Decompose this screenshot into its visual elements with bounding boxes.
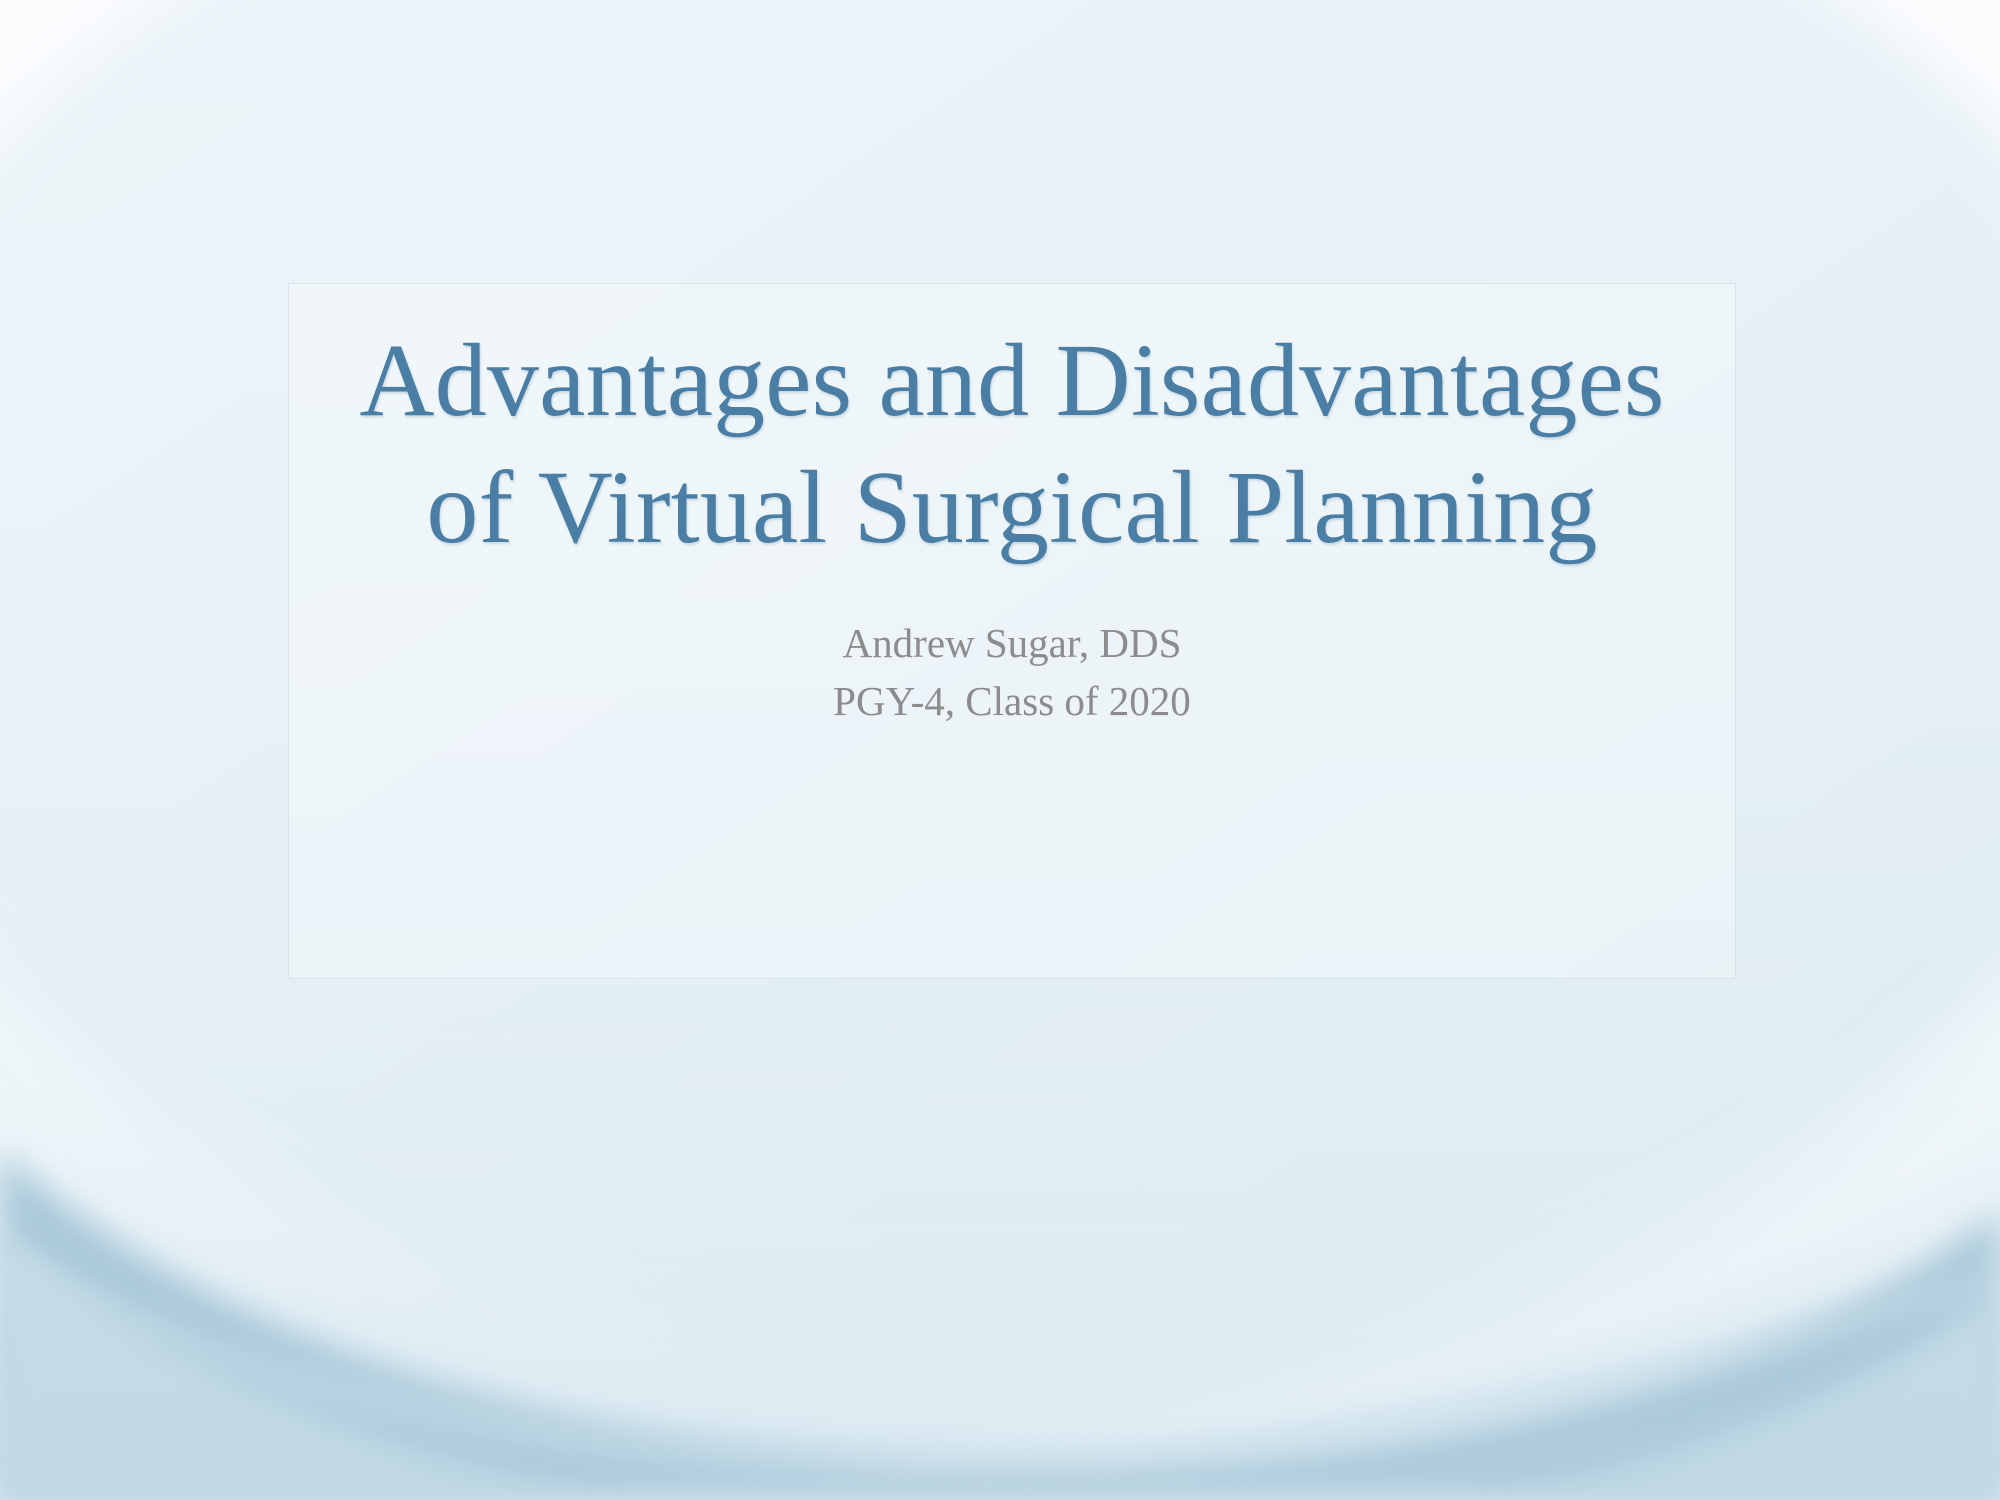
subtitle-block: Andrew Sugar, DDS PGY-4, Class of 2020 <box>833 572 1191 730</box>
page-title: Advantages and Disadvantages of Virtual … <box>352 318 1672 572</box>
subtitle-author: Andrew Sugar, DDS <box>833 614 1191 672</box>
title-content-frame: Advantages and Disadvantages of Virtual … <box>288 283 1736 979</box>
subtitle-affiliation: PGY-4, Class of 2020 <box>833 672 1191 730</box>
arc-edge-left <box>0 1236 2000 1477</box>
arc-band-deep <box>0 1150 2000 1500</box>
title-slide: Advantages and Disadvantages of Virtual … <box>0 0 2000 1500</box>
title-line-3: Surgical Planning <box>854 450 1598 565</box>
title-line-1: Advantages and <box>359 323 1029 438</box>
arc-right-sweep <box>820 1086 2000 1462</box>
arc-upper-wash <box>0 980 2000 1500</box>
arc-band-mid <box>0 1228 2000 1500</box>
